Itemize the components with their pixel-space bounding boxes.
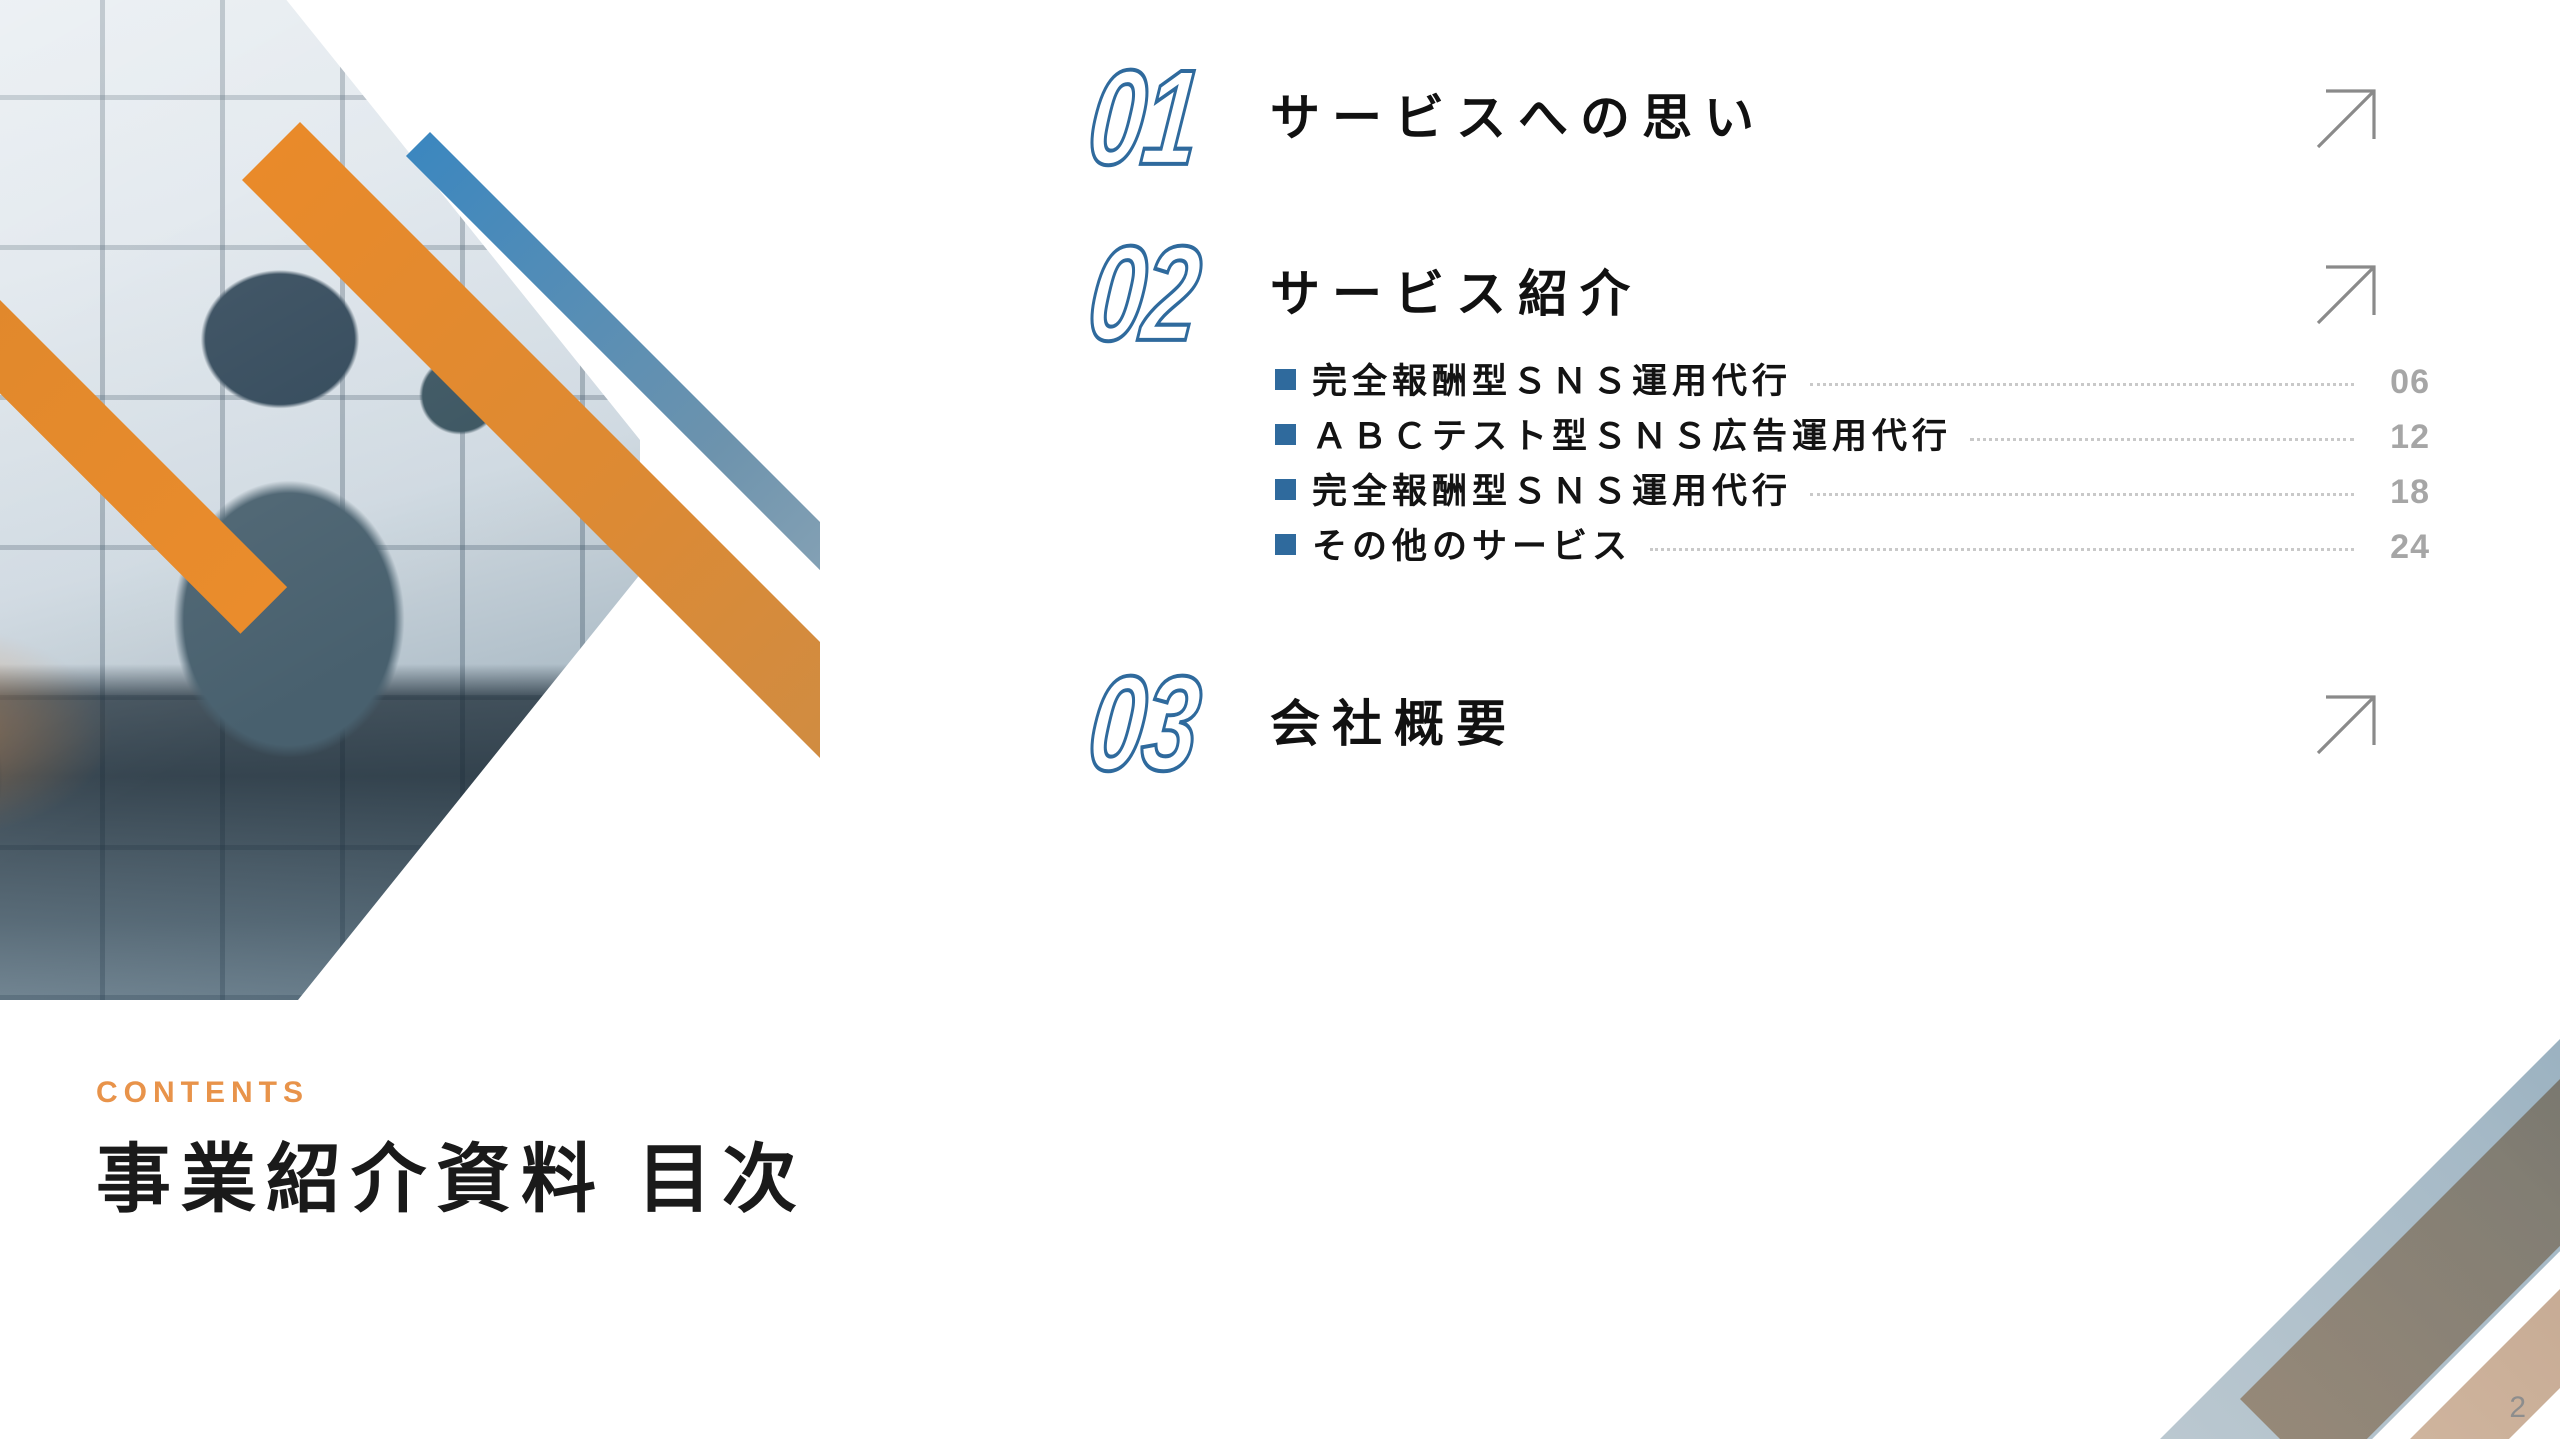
blue-gray-stripe xyxy=(2120,843,2560,1439)
toc-section-03[interactable]: 03 会社概要 xyxy=(1090,654,2430,794)
section-title: サービス紹介 xyxy=(1270,269,2304,319)
square-bullet-icon xyxy=(1275,479,1296,500)
toc-section-header[interactable]: 01 サービスへの思い xyxy=(1090,48,2430,188)
right-bottom-decoration xyxy=(1820,779,2560,1439)
toc-sub-item-list: 完全報酬型ＳＮＳ運用代行 06 ＡＢＣテスト型ＳＮＳ広告運用代行 12 完全報酬… xyxy=(1090,364,2430,583)
sub-item-label: ＡＢＣテスト型ＳＮＳ広告運用代行 xyxy=(1312,419,1952,454)
tan-stripe xyxy=(2240,779,2560,1439)
slide-canvas: 01 サービスへの思い 02 サービス紹介 xyxy=(0,0,2560,1439)
toc-sub-item[interactable]: 完全報酬型ＳＮＳ運用代行 18 xyxy=(1275,474,2430,528)
tan-stripe-secondary xyxy=(2380,1172,2560,1439)
toc-section-02[interactable]: 02 サービス紹介 完全報酬型ＳＮＳ運用代行 06 xyxy=(1090,224,2430,583)
page-title: 事業紹介資料 目次 xyxy=(96,1138,807,1221)
section-number: 03 xyxy=(1083,657,1247,792)
square-bullet-icon xyxy=(1275,369,1296,390)
left-decoration xyxy=(0,0,820,1080)
photo-haze-overlay xyxy=(0,0,640,1000)
toc-sub-item[interactable]: ＡＢＣテスト型ＳＮＳ広告運用代行 12 xyxy=(1275,419,2430,473)
toc-sub-item[interactable]: その他のサービス 24 xyxy=(1275,529,2430,583)
section-title: サービスへの思い xyxy=(1270,93,2304,143)
spacer-after-section-01 xyxy=(1090,188,2430,224)
toc-sub-item[interactable]: 完全報酬型ＳＮＳ運用代行 06 xyxy=(1275,364,2430,418)
orange-stripe-top xyxy=(0,0,287,634)
table-of-contents: 01 サービスへの思い 02 サービス紹介 xyxy=(1090,48,2430,794)
sub-item-page-number: 06 xyxy=(2368,365,2430,399)
dot-leader xyxy=(1650,547,2354,551)
dot-leader xyxy=(1810,492,2354,496)
sub-item-page-number: 18 xyxy=(2368,475,2430,509)
slide-page-number: 2 xyxy=(2509,1393,2526,1423)
arrow-up-right-icon[interactable] xyxy=(2304,75,2390,161)
section-title: 会社概要 xyxy=(1270,699,2304,749)
spacer-after-section-02 xyxy=(1090,584,2430,654)
square-bullet-icon xyxy=(1275,534,1296,555)
section-number: 01 xyxy=(1083,51,1247,186)
eyebrow-label: CONTENTS xyxy=(96,1078,807,1108)
toc-section-01[interactable]: 01 サービスへの思い xyxy=(1090,48,2430,188)
toc-section-header[interactable]: 02 サービス紹介 xyxy=(1090,224,2430,364)
sub-item-label: その他のサービス xyxy=(1312,529,1632,564)
dot-leader xyxy=(1970,437,2354,441)
toc-section-header[interactable]: 03 会社概要 xyxy=(1090,654,2430,794)
orange-stripe-main xyxy=(242,122,820,930)
arrow-up-right-icon[interactable] xyxy=(2304,681,2390,767)
sub-item-page-number: 12 xyxy=(2368,420,2430,454)
business-meeting-photo xyxy=(0,0,640,1000)
title-block: CONTENTS 事業紹介資料 目次 xyxy=(96,1078,807,1221)
dot-leader xyxy=(1810,382,2354,386)
sub-item-label: 完全報酬型ＳＮＳ運用代行 xyxy=(1312,364,1792,399)
blue-stripe-main xyxy=(406,132,820,708)
arrow-up-right-icon[interactable] xyxy=(2304,251,2390,337)
section-number: 02 xyxy=(1083,227,1247,362)
photo-image xyxy=(0,0,640,1000)
sub-item-label: 完全報酬型ＳＮＳ運用代行 xyxy=(1312,474,1792,509)
square-bullet-icon xyxy=(1275,424,1296,445)
sub-item-page-number: 24 xyxy=(2368,530,2430,564)
